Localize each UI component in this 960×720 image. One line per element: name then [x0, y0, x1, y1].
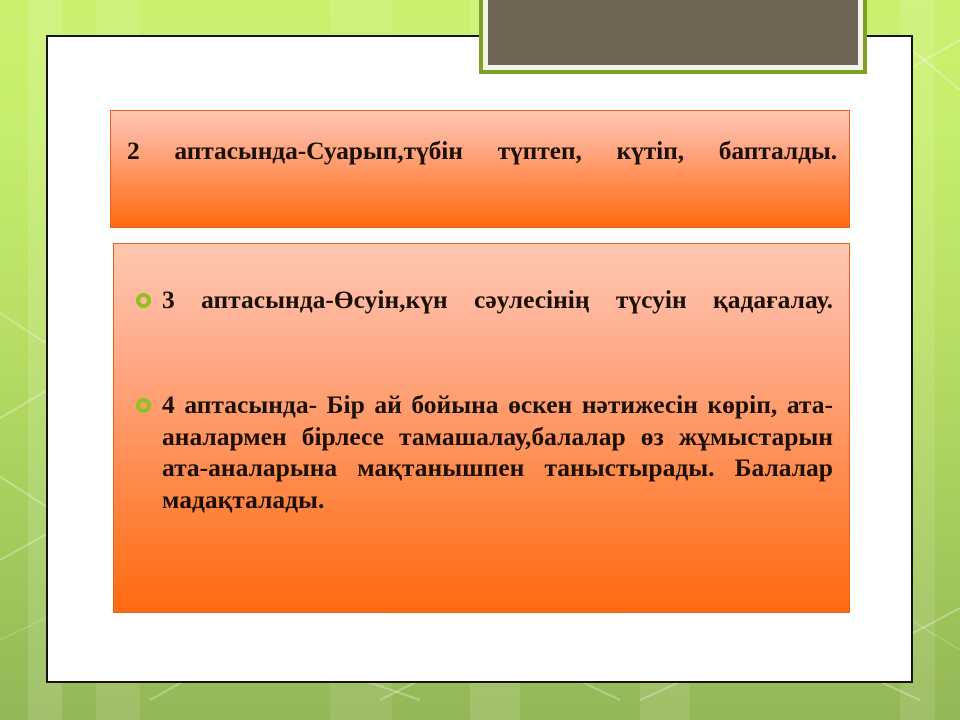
bullet-list: 3 аптасында-Өсуін,күн сәулесінің түсуін … — [124, 284, 833, 547]
ring-bullet-icon — [136, 398, 151, 413]
week-4-text: 4 аптасында- Бір ай бойына өскен нәтижес… — [162, 389, 833, 547]
week-3-text: 3 аптасында-Өсуін,күн сәулесінің түсуін … — [162, 284, 833, 347]
ring-bullet-icon — [136, 293, 151, 308]
list-item: 3 аптасында-Өсуін,күн сәулесінің түсуін … — [124, 284, 833, 347]
photo-placeholder-image — [488, 0, 858, 65]
list-item: 4 аптасында- Бір ай бойына өскен нәтижес… — [124, 389, 833, 547]
callout-box-week-2: 2 аптасында-Суарып,түбін түптеп, күтіп, … — [110, 110, 850, 228]
week-2-text: 2 аптасында-Суарып,түбін түптеп, күтіп, … — [119, 133, 837, 205]
callout-box-weeks-3-4: 3 аптасында-Өсуін,күн сәулесінің түсуін … — [113, 243, 850, 613]
photo-placeholder-frame — [479, 0, 867, 74]
slide-root: 2 аптасында-Суарып,түбін түптеп, күтіп, … — [0, 0, 960, 720]
